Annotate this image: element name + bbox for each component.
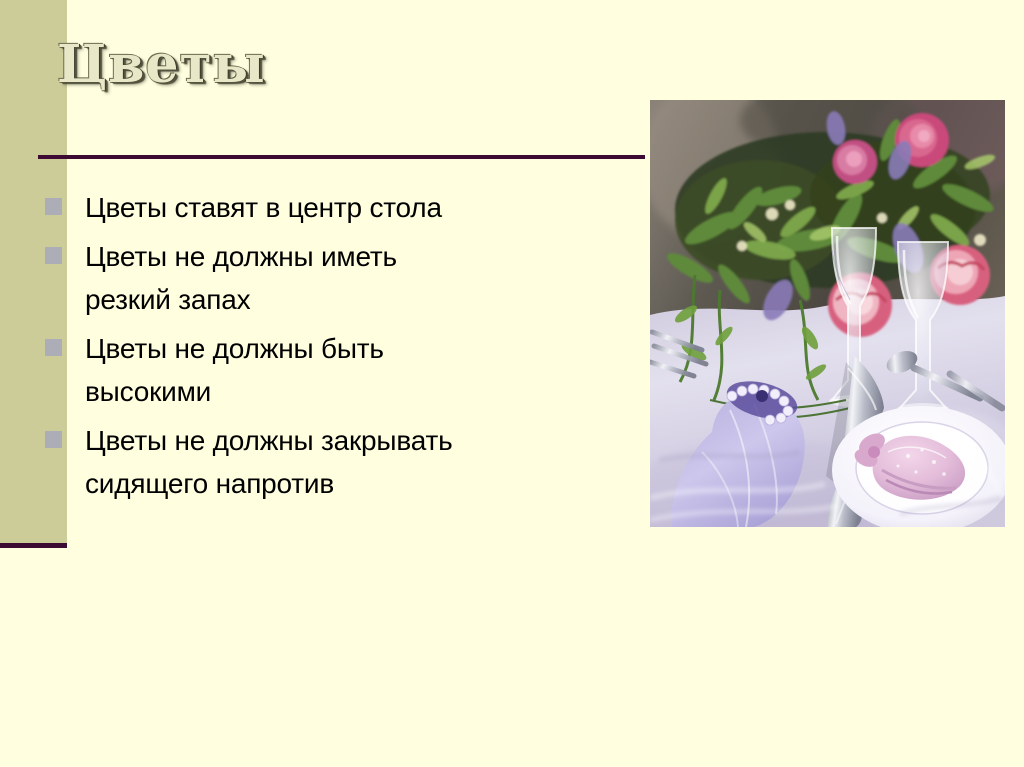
table-setting-photo [650, 100, 1005, 527]
square-bullet-icon [45, 339, 62, 356]
square-bullet-icon [45, 247, 62, 264]
title-underline-rule [38, 155, 645, 159]
square-bullet-icon [45, 198, 62, 215]
square-bullet-icon [45, 431, 62, 448]
list-item: Цветы не должны иметь резкий запах [0, 235, 520, 321]
list-item-label: Цветы ставят в центр стола [85, 186, 460, 229]
list-item: Цветы не должны закрывать сидящего напро… [0, 419, 520, 505]
list-item-label: Цветы не должны закрывать сидящего напро… [85, 419, 460, 505]
list-item-label: Цветы не должны иметь резкий запах [85, 235, 460, 321]
bullet-list: Цветы ставят в центр стола Цветы не долж… [0, 186, 520, 511]
list-item-label: Цветы не должны быть высокими [85, 327, 460, 413]
list-item: Цветы ставят в центр стола [0, 186, 520, 229]
presentation-slide: Цветы Цветы ставят в центр стола Цветы н… [0, 0, 1024, 767]
list-item: Цветы не должны быть высокими [0, 327, 520, 413]
left-band-rule [0, 543, 67, 548]
page-title: Цветы [57, 34, 266, 96]
title-block: Цветы [0, 34, 660, 114]
